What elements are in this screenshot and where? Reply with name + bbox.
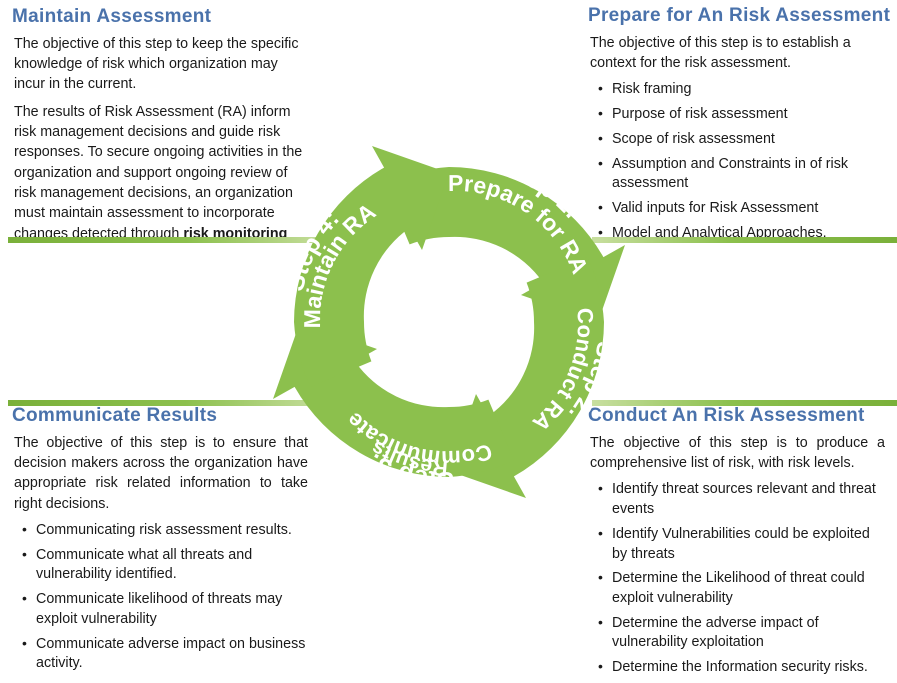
- list-item: Determine the Information security risks…: [596, 658, 885, 678]
- list-item: Determine the Likelihood of threat could…: [596, 569, 885, 608]
- page-title-maintain-assessment: Maintain Assessment: [0, 6, 340, 28]
- list-item: Determine the adverse impact of vulnerab…: [596, 614, 885, 653]
- list-item: Communicate what all threats and vulnera…: [20, 546, 310, 585]
- list-item: Communicating risk assessment results.: [20, 521, 310, 541]
- prepare-intro-paragraph: The objective of this step is to establi…: [580, 33, 897, 74]
- risk-assessment-cycle-diagram: Step 1: Prepare for RA Step 2: Conduct R…: [253, 126, 645, 518]
- list-item: Communicate likelihood of threats may ex…: [20, 590, 310, 629]
- list-item: Risk framing: [596, 80, 883, 100]
- maintain-paragraph-1: The objective of this step to keep the s…: [0, 34, 340, 95]
- list-item: Communicate adverse impact on business a…: [20, 635, 310, 674]
- list-item: Identify Vulnerabilities could be exploi…: [596, 525, 885, 564]
- page-title-prepare-for-risk-assessment: Prepare for An Risk Assessment: [580, 5, 897, 27]
- list-item: Purpose of risk assessment: [596, 105, 883, 125]
- communicate-bullet-list: Communicating risk assessment results. C…: [0, 521, 330, 674]
